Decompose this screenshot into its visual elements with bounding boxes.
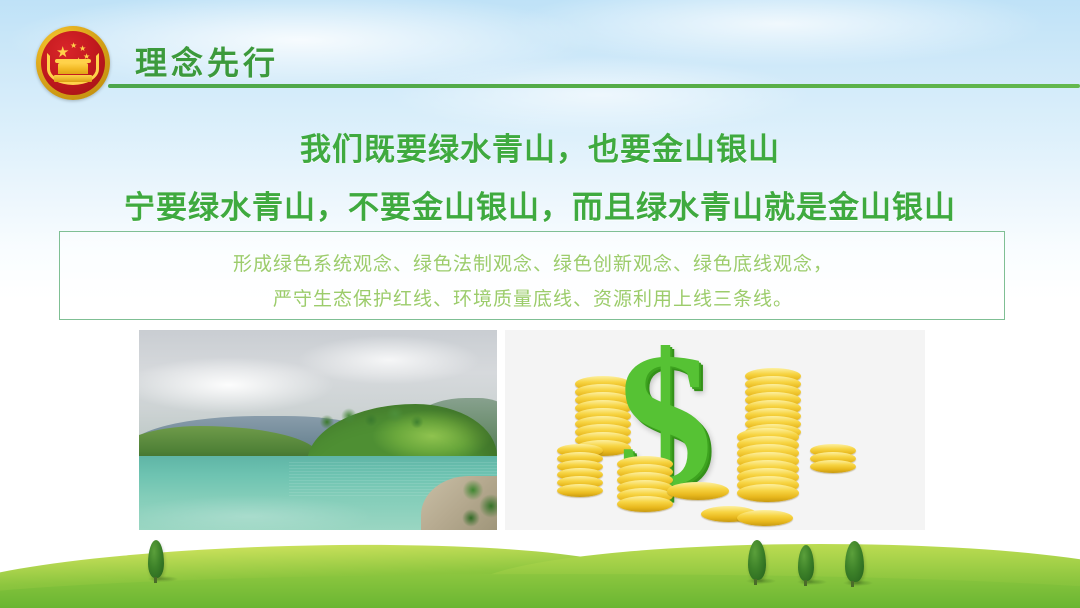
- gold-coins-dollar-sign-photo: $: [505, 330, 925, 530]
- green-mountain-lake-photo: [139, 330, 497, 530]
- loose-coin-1: [667, 482, 729, 500]
- loose-coin-3: [737, 510, 793, 526]
- note-line-2: 严守生态保护红线、环境质量底线、资源利用上线三条线。: [60, 284, 1006, 311]
- slide: ★ ★★★★ 理念先行 我们既要绿水青山，也要金山银山 宁要绿水青山，不要金山银…: [0, 0, 1080, 608]
- photo-shore-bush: [457, 472, 497, 530]
- emblem-base: [54, 75, 92, 82]
- emblem-inner-disc: ★ ★★★★: [41, 31, 105, 95]
- slide-header: ★ ★★★★ 理念先行: [0, 0, 1080, 110]
- header-divider: [108, 84, 1080, 88]
- emblem-tiananmen-gate: [58, 63, 88, 74]
- note-box: 形成绿色系统观念、绿色法制观念、绿色创新观念、绿色底线观念， 严守生态保护红线、…: [59, 231, 1005, 320]
- headline-secondary: 宁要绿水青山，不要金山银山，而且绿水青山就是金山银山: [0, 182, 1080, 227]
- photo-island-trees: [315, 400, 435, 434]
- cypress-tree-icon: [798, 545, 814, 581]
- page-title: 理念先行: [135, 38, 279, 84]
- headline-primary: 我们既要绿水青山，也要金山银山: [0, 124, 1080, 169]
- china-national-emblem-icon: ★ ★★★★: [36, 26, 110, 100]
- note-line-1: 形成绿色系统观念、绿色法制观念、绿色创新观念、绿色底线观念，: [60, 249, 1006, 276]
